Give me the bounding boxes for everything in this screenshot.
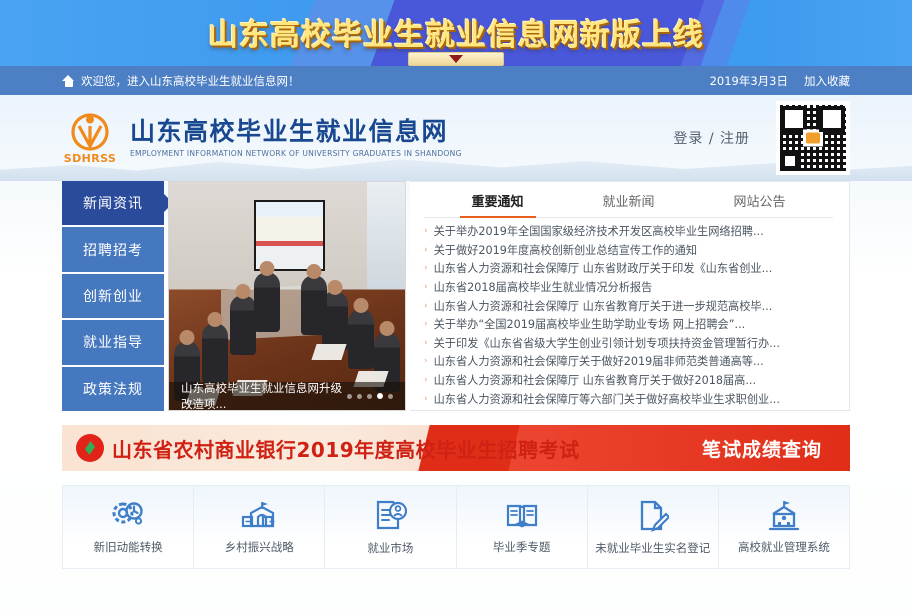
- site-name-cn: 山东高校毕业生就业信息网: [130, 118, 462, 146]
- logo-abbr: SDHRSS: [62, 152, 118, 165]
- list-item[interactable]: ›关于举办“全国2019届高校毕业生助学助业专场 网上招聘会”...: [424, 315, 833, 334]
- home-icon: [62, 75, 75, 87]
- gear-clock-icon: [110, 500, 146, 532]
- carousel-dot-5[interactable]: [388, 394, 393, 399]
- carousel-dot-1[interactable]: [347, 394, 352, 399]
- quick-link-unemployed-registration[interactable]: 未就业毕业生实名登记: [588, 486, 719, 568]
- news-title: 山东省人力资源和社会保障厅 山东省教育厅关于做好2018届高...: [434, 372, 756, 388]
- add-favorite-link[interactable]: 加入收藏: [804, 73, 850, 89]
- news-tabs: 重要通知 就业新闻 网站公告: [424, 182, 833, 218]
- quick-link-job-market[interactable]: 就业市场: [325, 486, 456, 568]
- quick-link-label: 毕业季专题: [493, 539, 551, 555]
- quick-link-label: 乡村振兴战略: [225, 539, 294, 555]
- news-title: 山东省人力资源和社会保障厅等六部门关于做好高校毕业生求职创业...: [434, 391, 780, 407]
- site-brand[interactable]: SDHRSS 山东高校毕业生就业信息网 EMPLOYMENT INFORMATI…: [62, 112, 462, 164]
- quick-links-row: 新旧动能转换 乡村振兴战略 就业市场: [62, 485, 850, 569]
- welcome-bar: 欢迎您，进入山东高校毕业生就业信息网！ 2019年3月3日 加入收藏: [0, 66, 912, 95]
- tab-employment-news[interactable]: 就业新闻: [563, 191, 694, 217]
- news-carousel[interactable]: 山东高校毕业生就业信息网升级改造项...: [168, 181, 406, 411]
- quick-link-label: 高校就业管理系统: [738, 539, 830, 555]
- tab-important-notice[interactable]: 重要通知: [432, 191, 563, 217]
- site-header: SDHRSS 山东高校毕业生就业信息网 EMPLOYMENT INFORMATI…: [0, 95, 912, 181]
- list-item[interactable]: ›山东省2018届高校毕业生就业情况分析报告: [424, 278, 833, 297]
- chevron-right-icon: ›: [424, 245, 428, 255]
- quick-link-university-system[interactable]: 高校就业管理系统: [719, 486, 849, 568]
- quick-link-graduation-topic[interactable]: 毕业季专题: [457, 486, 588, 568]
- qr-finder-bottom-left: [781, 152, 799, 170]
- list-item[interactable]: ›山东省人力资源和社会保障厅 山东省教育厅关于做好2018届高...: [424, 371, 833, 390]
- quick-link-label: 新旧动能转换: [94, 539, 163, 555]
- qr-code-icon[interactable]: [776, 101, 850, 175]
- chevron-right-icon: ›: [424, 394, 428, 404]
- school-building-icon: [240, 500, 278, 532]
- promo-title: 山东高校毕业生就业信息网新版上线: [0, 10, 912, 54]
- news-title: 山东省人力资源和社会保障厅关于做好2019届非师范类普通高等...: [434, 353, 764, 369]
- news-title: 山东省2018届高校毕业生就业情况分析报告: [434, 279, 653, 295]
- chevron-right-icon: ›: [424, 301, 428, 311]
- carousel-dot-4[interactable]: [377, 393, 383, 399]
- category-sidebar: 新闻资讯 招聘招考 创新创业 就业指导 政策法规: [62, 181, 164, 411]
- triangle-down-icon: [449, 55, 463, 63]
- banner-left: 山东省农村商业银行2019年度高校毕业生招聘考试: [62, 434, 580, 463]
- news-panel: 重要通知 就业新闻 网站公告 ›关于举办2019年全国国家级经济技术开发区高校毕…: [410, 181, 850, 411]
- photo-paper: [311, 344, 346, 360]
- quick-link-label: 未就业毕业生实名登记: [595, 540, 710, 556]
- chevron-right-icon: ›: [424, 226, 428, 236]
- photo-screen: [254, 200, 325, 271]
- list-item[interactable]: ›关于举办2019年全国国家级经济技术开发区高校毕业生网络招聘...: [424, 222, 833, 241]
- list-item[interactable]: ›山东省人力资源和社会保障厅 山东省教育厅关于进一步规范高校毕...: [424, 296, 833, 315]
- news-title: 关于做好2019年度高校创新创业总结宣传工作的通知: [434, 242, 697, 258]
- list-item[interactable]: ›关于印发《山东省省级大学生创业引领计划专项扶持资金管理暂行办...: [424, 334, 833, 353]
- chevron-right-icon: ›: [424, 356, 428, 366]
- chevron-right-icon: ›: [424, 375, 428, 385]
- photo-person: [202, 323, 228, 383]
- exam-score-query-button[interactable]: 笔试成绩查询: [702, 435, 850, 462]
- tab-site-announcement[interactable]: 网站公告: [694, 191, 825, 217]
- quick-link-rural-revitalization[interactable]: 乡村振兴战略: [194, 486, 325, 568]
- welcome-text: 欢迎您，进入山东高校毕业生就业信息网！: [81, 73, 300, 89]
- logo-glyph: [62, 112, 118, 154]
- bank-exam-banner[interactable]: 山东省农村商业银行2019年度高校毕业生招聘考试 笔试成绩查询: [62, 425, 850, 471]
- promo-collapse-tab[interactable]: [408, 52, 504, 66]
- sidebar-item-policy[interactable]: 政策法规: [62, 367, 164, 411]
- sidebar-item-news[interactable]: 新闻资讯: [62, 181, 164, 225]
- photo-person: [301, 275, 327, 335]
- document-person-icon: [373, 499, 407, 533]
- news-list: ›关于举办2019年全国国家级经济技术开发区高校毕业生网络招聘... ›关于做好…: [424, 218, 833, 410]
- list-item[interactable]: ›关于做好2019年度高校创新创业总结宣传工作的通知: [424, 241, 833, 260]
- qr-pattern: [780, 105, 846, 171]
- chevron-right-icon: ›: [424, 319, 428, 329]
- photo-person: [348, 309, 374, 369]
- carousel-caption-bar: 山东高校毕业生就业信息网升级改造项...: [169, 382, 405, 410]
- carousel-dot-2[interactable]: [357, 394, 362, 399]
- list-item[interactable]: ›山东省人力资源和社会保障厅关于做好2019届非师范类普通高等...: [424, 352, 833, 371]
- current-date: 2019年3月3日: [710, 73, 788, 89]
- carousel-photo: [169, 182, 405, 410]
- carousel-dot-3[interactable]: [367, 394, 372, 399]
- document-pencil-icon: [637, 499, 669, 533]
- photo-person: [254, 272, 280, 332]
- sdhrss-logo-icon: SDHRSS: [62, 112, 118, 164]
- sidebar-item-innovation[interactable]: 创新创业: [62, 274, 164, 318]
- main-content: 新闻资讯 招聘招考 创新创业 就业指导 政策法规: [0, 181, 912, 569]
- chevron-right-icon: ›: [424, 282, 428, 292]
- news-title: 山东省人力资源和社会保障厅 山东省财政厅关于印发《山东省创业...: [434, 260, 773, 276]
- sidebar-item-recruitment[interactable]: 招聘招考: [62, 227, 164, 271]
- campus-flag-icon: [766, 500, 802, 532]
- top-panel: 新闻资讯 招聘招考 创新创业 就业指导 政策法规: [62, 181, 850, 411]
- news-title: 关于举办2019年全国国家级经济技术开发区高校毕业生网络招聘...: [434, 223, 764, 239]
- carousel-caption: 山东高校毕业生就业信息网升级改造项...: [181, 380, 347, 411]
- site-name-en: EMPLOYMENT INFORMATION NETWORK OF UNIVER…: [130, 149, 462, 158]
- banner-title: 山东省农村商业银行2019年度高校毕业生招聘考试: [112, 434, 580, 463]
- chevron-right-icon: ›: [424, 338, 428, 348]
- photo-person: [230, 295, 256, 355]
- news-title: 山东省人力资源和社会保障厅 山东省教育厅关于进一步规范高校毕...: [434, 298, 773, 314]
- list-item[interactable]: ›山东省人力资源和社会保障厅等六部门关于做好高校毕业生求职创业...: [424, 389, 833, 408]
- sidebar-item-guidance[interactable]: 就业指导: [62, 320, 164, 364]
- bank-logo-icon: [76, 434, 104, 462]
- header-actions: 登录 / 注册: [673, 101, 850, 175]
- quick-link-label: 就业市场: [367, 540, 413, 556]
- carousel-dots: [347, 393, 393, 399]
- login-register-link[interactable]: 登录 / 注册: [673, 128, 750, 148]
- welcome-left: 欢迎您，进入山东高校毕业生就业信息网！: [62, 73, 300, 89]
- list-item[interactable]: ›山东省人力资源和社会保障厅 山东省财政厅关于印发《山东省创业...: [424, 259, 833, 278]
- brand-text: 山东高校毕业生就业信息网 EMPLOYMENT INFORMATION NETW…: [130, 118, 462, 158]
- quick-link-new-energy[interactable]: 新旧动能转换: [63, 486, 194, 568]
- news-title: 关于举办“全国2019届高校毕业生助学助业专场 网上招聘会”...: [434, 316, 746, 332]
- news-title: 关于印发《山东省省级大学生创业引领计划专项扶持资金管理暂行办...: [434, 335, 780, 351]
- open-book-icon: [505, 500, 539, 532]
- welcome-right: 2019年3月3日 加入收藏: [710, 73, 850, 89]
- chevron-right-icon: ›: [424, 263, 428, 273]
- qr-center-logo: [803, 130, 823, 147]
